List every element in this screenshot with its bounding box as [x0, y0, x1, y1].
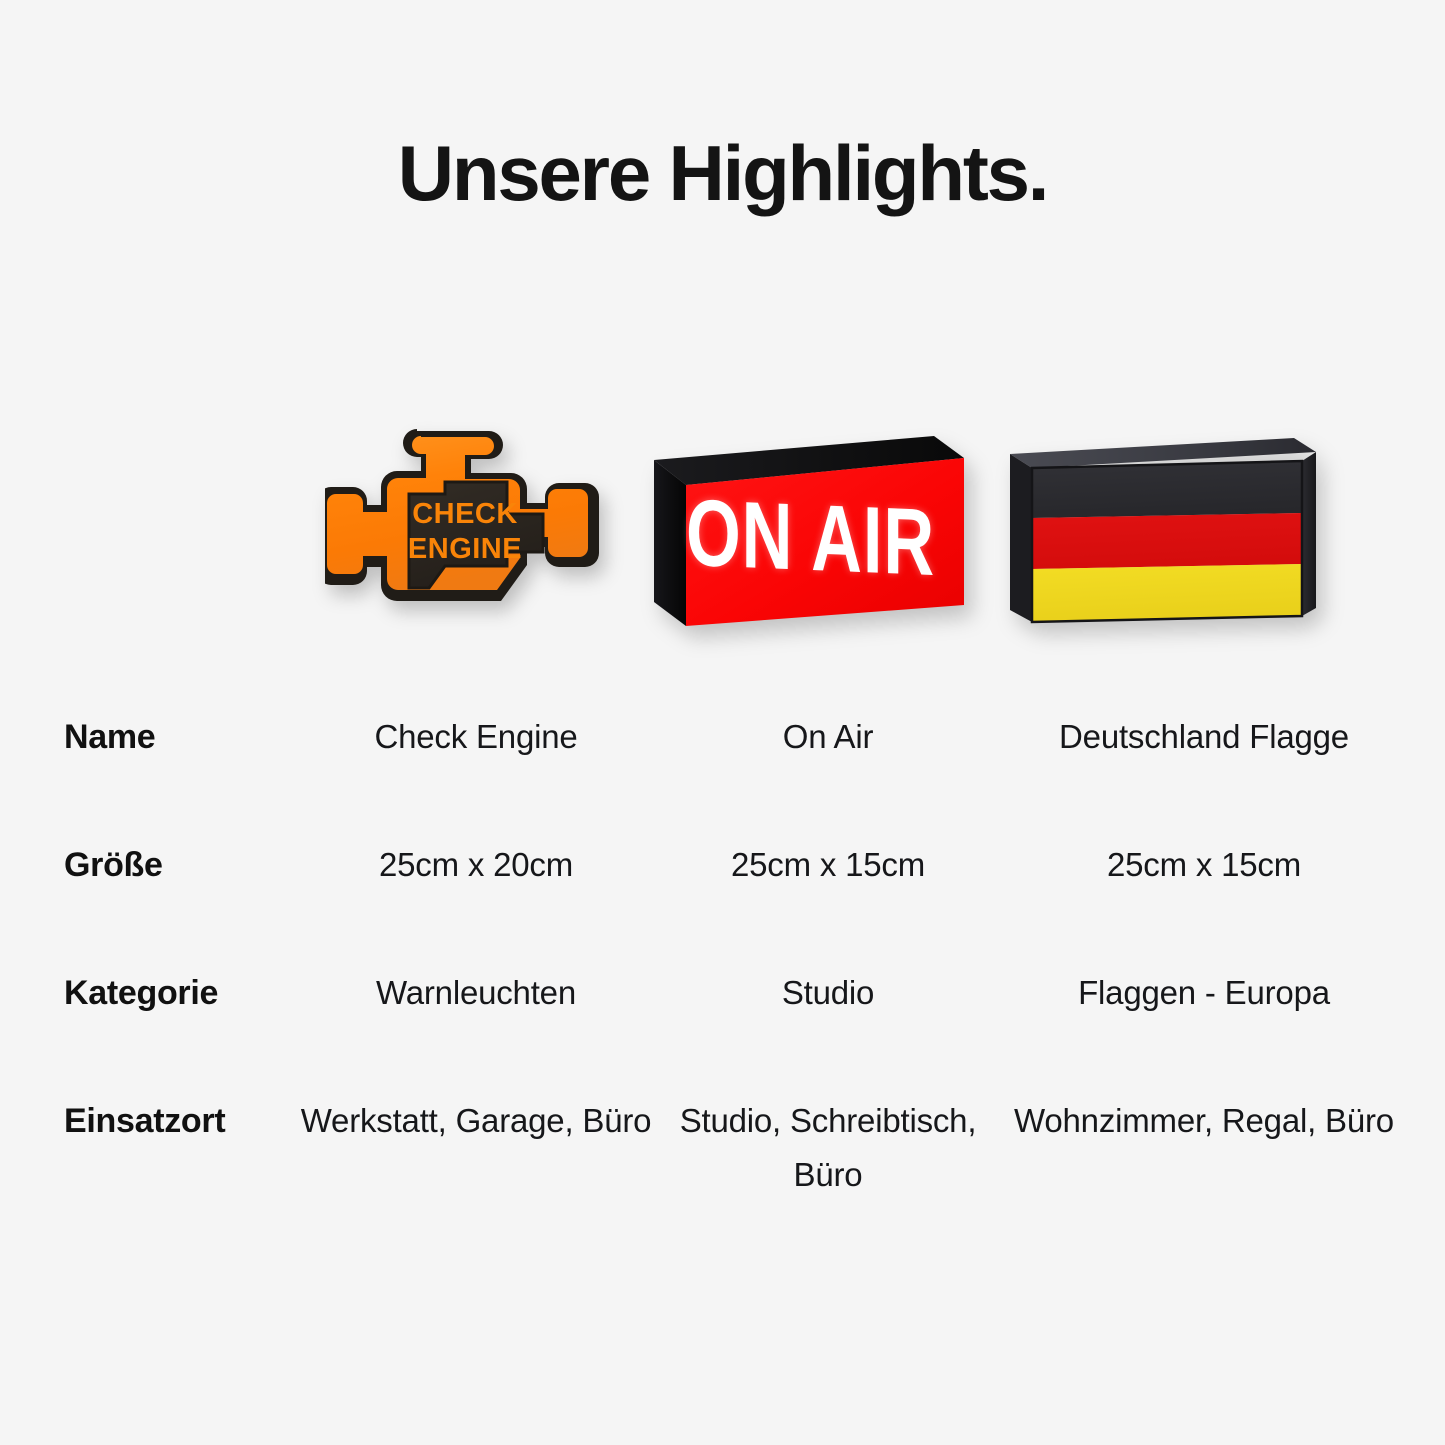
highlights-comparison-page: Unsere Highlights.	[0, 0, 1445, 1445]
table-row: Kategorie Warnleuchten Studio Flaggen - …	[0, 942, 1445, 1070]
cell-name-on-air: On Air	[652, 686, 1004, 764]
table-row: Größe 25cm x 20cm 25cm x 15cm 25cm x 15c…	[0, 814, 1445, 942]
product-image-on-air[interactable]: ON AIR	[632, 410, 982, 665]
cell-size-check-engine: 25cm x 20cm	[300, 814, 652, 892]
product-image-deutschland-flagge[interactable]	[982, 410, 1332, 665]
row-label-kategorie: Kategorie	[0, 942, 300, 1010]
cell-category-on-air: Studio	[652, 942, 1004, 1020]
cell-usage-check-engine: Werkstatt, Garage, Büro	[300, 1070, 652, 1148]
table-row: Einsatzort Werkstatt, Garage, Büro Studi…	[0, 1070, 1445, 1260]
cell-size-deutschland-flagge: 25cm x 15cm	[1004, 814, 1404, 892]
product-image-row: CHECK ENGINE	[60, 410, 1390, 665]
germany-flag-lightbox-icon	[1002, 430, 1322, 635]
row-label-name: Name	[0, 686, 300, 754]
row-label-einsatzort: Einsatzort	[0, 1070, 300, 1138]
table-row: Name Check Engine On Air Deutschland Fla…	[0, 686, 1445, 814]
cell-usage-deutschland-flagge: Wohnzimmer, Regal, Büro	[1004, 1070, 1404, 1148]
cell-size-on-air: 25cm x 15cm	[652, 814, 1004, 892]
check-engine-lamp-icon: CHECK ENGINE	[325, 419, 625, 649]
cell-category-check-engine: Warnleuchten	[300, 942, 652, 1020]
page-title: Unsere Highlights.	[0, 134, 1445, 212]
svg-text:CHECK: CHECK	[412, 498, 518, 530]
cell-category-deutschland-flagge: Flaggen - Europa	[1004, 942, 1404, 1020]
cell-name-deutschland-flagge: Deutschland Flagge	[1004, 686, 1404, 764]
row-label-groesse: Größe	[0, 814, 300, 882]
on-air-lightbox-icon: ON AIR	[644, 430, 974, 645]
cell-usage-on-air: Studio, Schreibtisch, Büro	[652, 1070, 1004, 1202]
product-image-check-engine[interactable]: CHECK ENGINE	[282, 410, 632, 665]
svg-text:ENGINE: ENGINE	[408, 533, 522, 565]
specs-table: Name Check Engine On Air Deutschland Fla…	[0, 686, 1445, 1260]
cell-name-check-engine: Check Engine	[300, 686, 652, 764]
